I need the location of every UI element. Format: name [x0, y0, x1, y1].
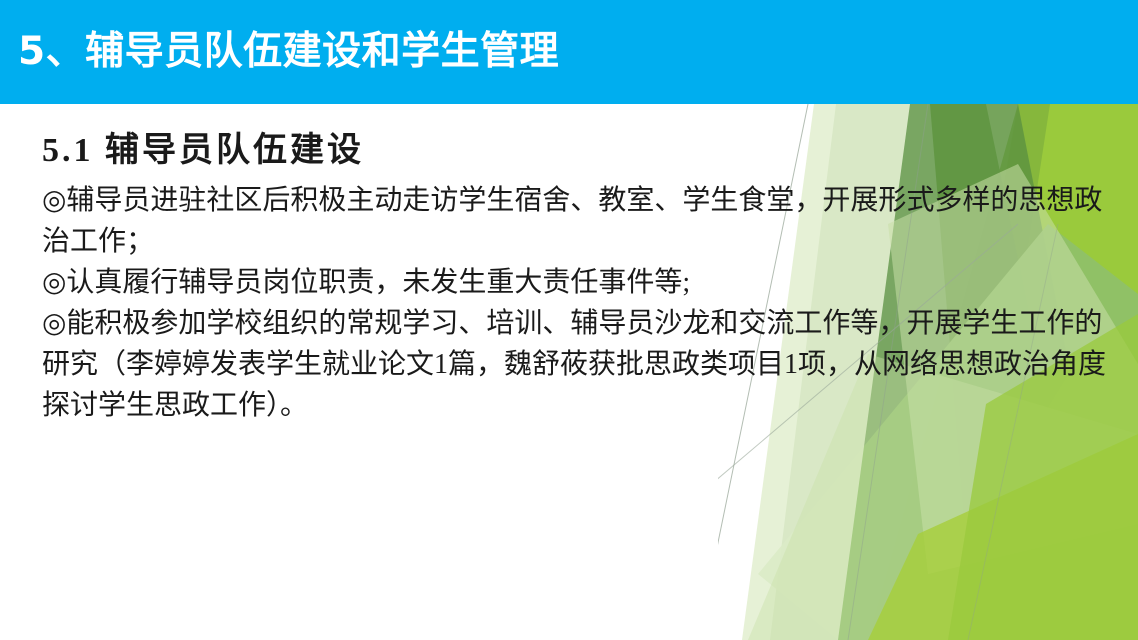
title-banner: 5、辅导员队伍建设和学生管理: [0, 0, 1138, 104]
section-heading: 5.1 辅导员队伍建设: [42, 128, 1090, 174]
body-line: 研究（李婷婷发表学生就业论文1篇，魏舒莜获批思政类项目1项，从网络思想政治角度: [42, 344, 1090, 385]
bullet-paragraph-3: ◎能积极参加学校组织的常规学习、培训、辅导员沙龙和交流工作等，开展学生工作的 研…: [42, 303, 1090, 426]
body-line: 治工作；: [42, 221, 1090, 262]
page-title: 5、辅导员队伍建设和学生管理: [18, 29, 559, 75]
body-line: ◎能积极参加学校组织的常规学习、培训、辅导员沙龙和交流工作等，开展学生工作的: [42, 303, 1090, 344]
bullet-paragraph-2: ◎认真履行辅导员岗位职责，未发生重大责任事件等;: [42, 262, 1090, 303]
bullet-paragraph-1: ◎辅导员进驻社区后积极主动走访学生宿舍、教室、学生食堂，开展形式多样的思想政 治…: [42, 180, 1090, 262]
body-line: ◎辅导员进驻社区后积极主动走访学生宿舍、教室、学生食堂，开展形式多样的思想政: [42, 180, 1090, 221]
body-line: 探讨学生思政工作）。: [42, 385, 1090, 426]
slide-canvas: 5、辅导员队伍建设和学生管理 5.1 辅导员队伍建设 ◎辅导员进驻社区后积极主动…: [0, 0, 1138, 640]
decor-shape-lime-bottom: [868, 434, 1138, 640]
body-line: ◎认真履行辅导员岗位职责，未发生重大责任事件等;: [42, 262, 1090, 303]
content-body: 5.1 辅导员队伍建设 ◎辅导员进驻社区后积极主动走访学生宿舍、教室、学生食堂，…: [42, 128, 1090, 426]
